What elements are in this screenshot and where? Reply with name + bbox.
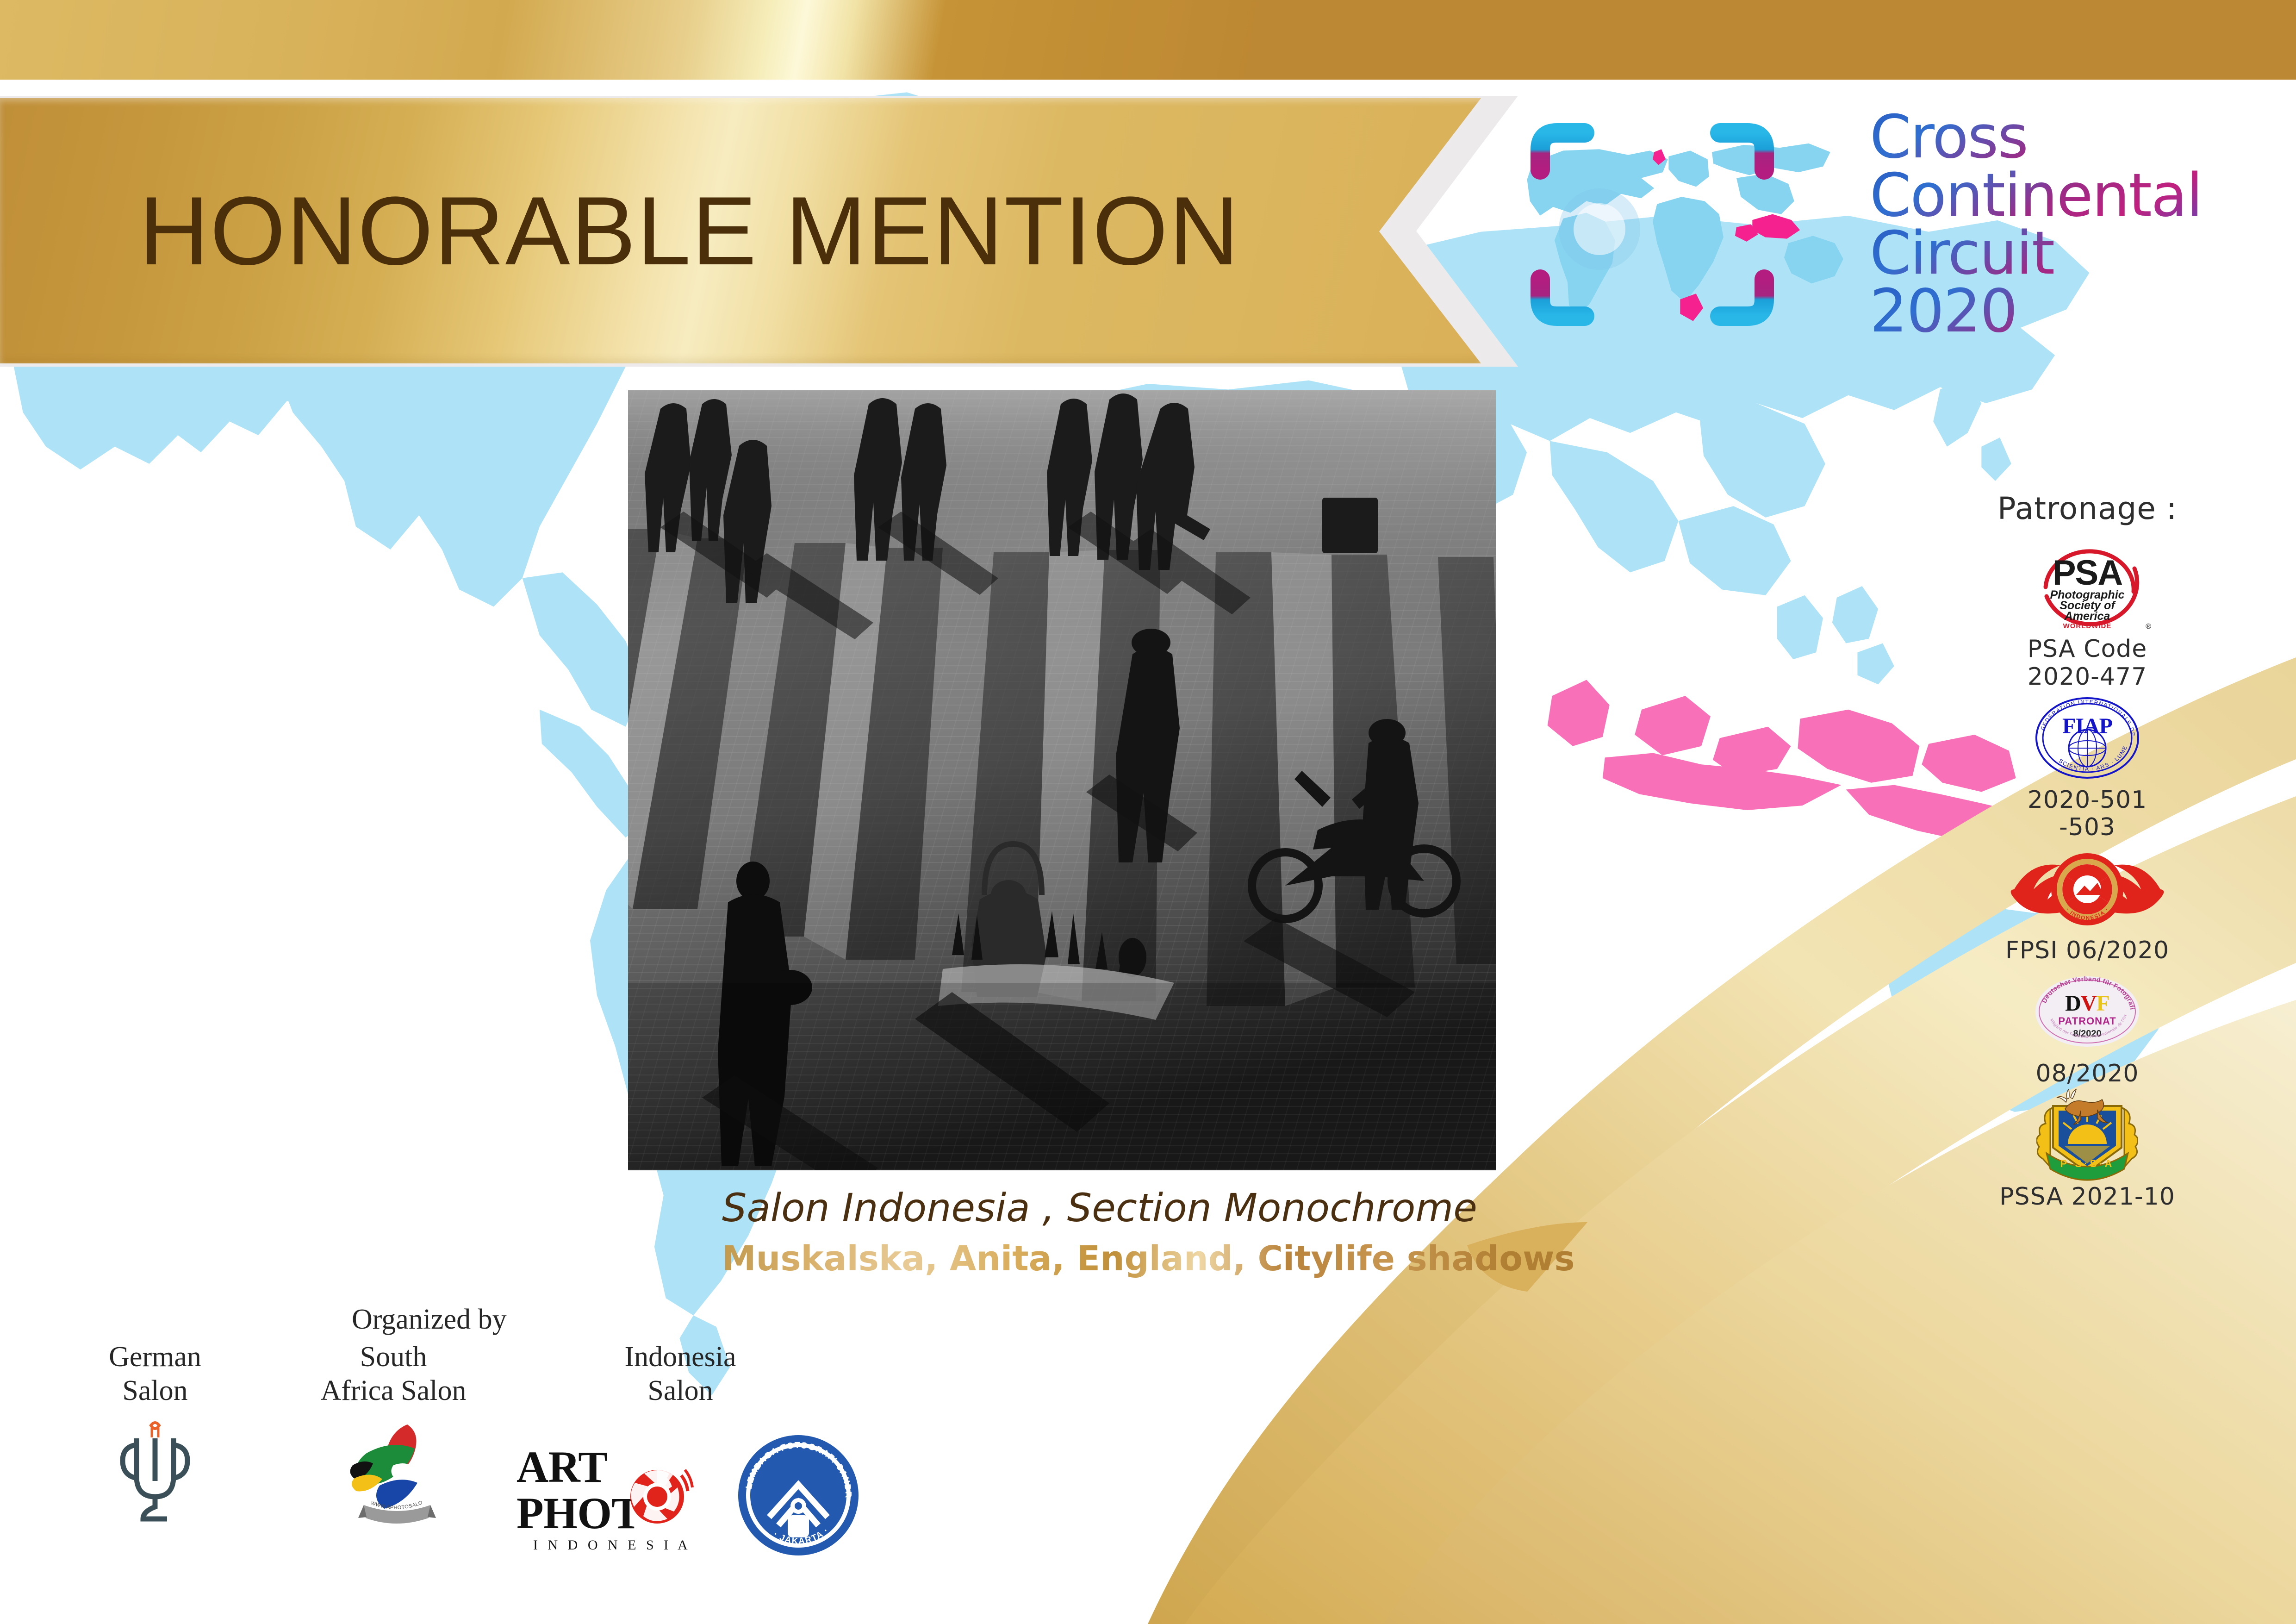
fpsi-code: FPSI 06/2020 <box>1958 937 2217 965</box>
fiap-logo: FIAP FEDERATION INTERNATIONALE DE L'ART … <box>1958 694 2217 782</box>
caption-author-entry: Muskalska, Anita, England, Citylife shad… <box>722 1239 1575 1279</box>
logo-line-continental: Continental <box>1870 167 2202 225</box>
pssa-logo: P·S·S·A <box>1958 1091 2217 1179</box>
organizer-german-label: German Salon <box>79 1340 231 1408</box>
photo-caption: Salon Indonesia , Section Monochrome Mus… <box>722 1185 1575 1279</box>
svg-text:DVF: DVF <box>2065 991 2109 1016</box>
logo-line-year: 2020 <box>1870 282 2202 340</box>
svg-text:ART: ART <box>516 1442 607 1492</box>
psa-logo: PSA Photographic Society of America WORL… <box>1958 543 2217 631</box>
psa-code: PSA Code 2020-477 <box>1958 636 2217 691</box>
page-title: HONORABLE MENTION <box>139 182 1240 280</box>
organizer-german-salon: German Salon <box>79 1340 231 1527</box>
pssa-code: PSSA 2021-10 <box>1958 1183 2217 1211</box>
organizer-south-africa-salon: South Africa Salon WWW.APHOTOSALON.COM <box>296 1340 491 1527</box>
svg-text:PSA: PSA <box>2053 553 2122 593</box>
camera-frame-world-map-logo <box>1500 109 1851 340</box>
logo-line-circuit: Circuit <box>1870 225 2202 282</box>
logo-line-cross: Cross <box>1870 108 2202 166</box>
svg-text:WORLDWIDE: WORLDWIDE <box>2063 622 2112 630</box>
german-salon-trophy-logo <box>79 1421 231 1527</box>
event-logo-wordmark: Cross Continental Circuit 2020 <box>1870 108 2202 341</box>
patronage-column: Patronage : PSA Photographic Society of … <box>1958 491 2217 1214</box>
svg-text:PATRONAT: PATRONAT <box>2058 1015 2116 1027</box>
svg-text:P·S·S·A: P·S·S·A <box>2060 1158 2115 1169</box>
patronage-item-fpsi: FEDERASI PERKUMPULAN SENI FOTO · INDONES… <box>1958 844 2217 965</box>
certificate-canvas: HONORABLE MENTION <box>0 0 2296 1624</box>
fpsi-logo: FEDERASI PERKUMPULAN SENI FOTO · INDONES… <box>1958 844 2217 932</box>
patronage-title: Patronage : <box>1958 491 2217 526</box>
patronage-item-fiap: FIAP FEDERATION INTERNATIONALE DE L'ART … <box>1958 694 2217 842</box>
organizer-sa-label: South Africa Salon <box>296 1340 491 1408</box>
lembaga-fotografi-candra-naya-jakarta-logo: LEMBAGA FOTOGRAFI CANDRA NAYA · JAKARTA … <box>736 1433 861 1560</box>
awarded-photograph <box>628 390 1496 1170</box>
organizer-indonesia-label: Indonesia Salon <box>592 1340 768 1408</box>
art-photo-indonesia-logo: ART PHOT I N D O <box>514 1442 713 1560</box>
svg-text:FIAP: FIAP <box>2062 714 2112 738</box>
dvf-code: 08/2020 <box>1958 1060 2217 1088</box>
event-logo: Cross Continental Circuit 2020 <box>1500 109 2268 340</box>
patronage-item-psa: PSA Photographic Society of America WORL… <box>1958 543 2217 691</box>
organized-by-label: Organized by <box>352 1303 507 1336</box>
svg-text:PHOT: PHOT <box>516 1488 641 1538</box>
svg-text:America: America <box>2064 610 2110 623</box>
caption-salon-section: Salon Indonesia , Section Monochrome <box>722 1185 1575 1230</box>
svg-text:I N D O N E S I A: I N D O N E S I A <box>533 1537 691 1553</box>
top-gold-strip <box>0 0 2296 80</box>
fiap-code: 2020-501 -503 <box>1958 787 2217 842</box>
south-africa-salon-flag-logo: WWW.APHOTOSALON.COM <box>296 1421 491 1527</box>
svg-text:®: ® <box>2146 623 2151 631</box>
patronage-item-dvf: Deutscher Verband für Fotografie e.V. DV… <box>1958 968 2217 1088</box>
patronage-item-pssa: P·S·S·A PSSA 2021-10 <box>1958 1091 2217 1211</box>
organizer-indonesia-salon: Indonesia Salon <box>592 1340 768 1408</box>
banner-ribbon: HONORABLE MENTION <box>0 98 1481 363</box>
award-banner: HONORABLE MENTION <box>0 96 1518 367</box>
dvf-logo: Deutscher Verband für Fotografie e.V. DV… <box>1958 968 2217 1056</box>
